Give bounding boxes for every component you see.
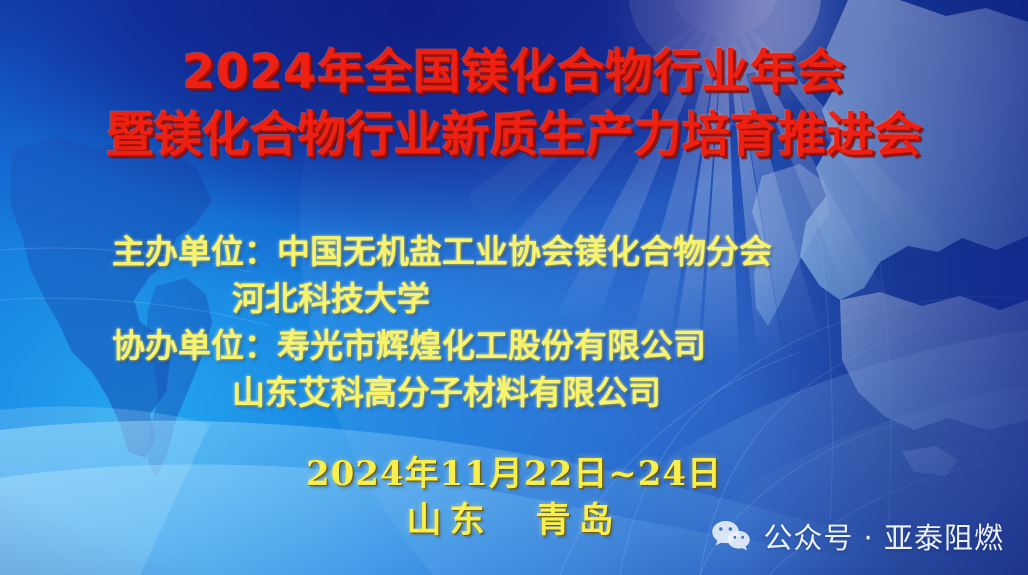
event-date: 2024年11月22日~24日 bbox=[0, 452, 1028, 496]
co-organizer-line: 协办单位：寿光市辉煌化工股份有限公司 bbox=[112, 322, 1028, 369]
banner-content: 2024年全国镁化合物行业年会 暨镁化合物行业新质生产力培育推进会 主办单位：中… bbox=[0, 0, 1028, 575]
title-line-2: 暨镁化合物行业新质生产力培育推进会 bbox=[0, 104, 1028, 166]
host-organizer-line-2: 河北科技大学 bbox=[112, 275, 1028, 322]
watermark: 公众号 · 亚泰阻燃 bbox=[711, 515, 1004, 557]
host-organizer-line: 主办单位：中国无机盐工业协会镁化合物分会 bbox=[112, 228, 1028, 275]
conference-banner: 2024年全国镁化合物行业年会 暨镁化合物行业新质生产力培育推进会 主办单位：中… bbox=[0, 0, 1028, 575]
watermark-text: 公众号 · 亚泰阻燃 bbox=[763, 515, 1004, 557]
wechat-icon bbox=[711, 519, 751, 553]
organizer-block: 主办单位：中国无机盐工业协会镁化合物分会 河北科技大学 协办单位：寿光市辉煌化工… bbox=[0, 228, 1028, 416]
banner-title: 2024年全国镁化合物行业年会 暨镁化合物行业新质生产力培育推进会 bbox=[0, 42, 1028, 166]
co-organizer-line-2: 山东艾科高分子材料有限公司 bbox=[112, 369, 1028, 416]
title-line-1: 2024年全国镁化合物行业年会 bbox=[0, 42, 1028, 104]
